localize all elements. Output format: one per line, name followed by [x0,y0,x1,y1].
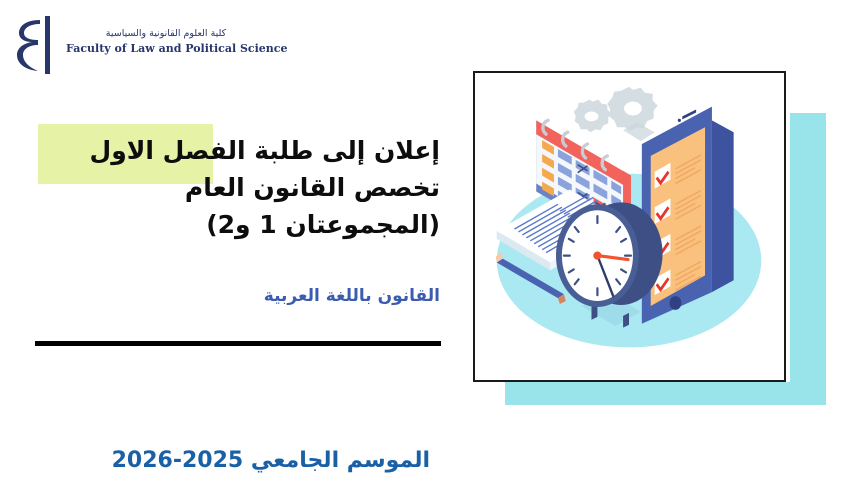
academic-season-label: الموسم الجامعي 2025-2026 [30,448,430,473]
gear-icon-small [574,100,612,133]
headline-line-2: تخصص القانون العام [30,169,440,206]
cyan-accent-bar-right [790,113,826,405]
divider-rule [35,341,441,346]
calligraphic-logo-icon [12,14,64,76]
gear-icon-large [607,87,657,131]
announcement-headline: إعلان إلى طلبة الفصل الاول تخصص القانون … [30,132,440,243]
illustration-panel [473,71,786,382]
headline-line-3: (المجموعتان 1 و2) [30,206,440,243]
faculty-name: كلية العلوم القانونية والسياسية Faculty … [66,28,266,56]
faculty-header: كلية العلوم القانونية والسياسية Faculty … [8,14,268,78]
announcement-slide: كلية العلوم القانونية والسياسية Faculty … [0,0,860,500]
cyan-accent-bar-bottom [505,382,826,405]
faculty-name-english: Faculty of Law and Political Science [66,42,266,56]
announcement-subtitle: القانون باللغة العربية [30,286,440,306]
headline-line-1: إعلان إلى طلبة الفصل الاول [30,132,440,169]
faculty-name-arabic: كلية العلوم القانونية والسياسية [66,28,266,40]
